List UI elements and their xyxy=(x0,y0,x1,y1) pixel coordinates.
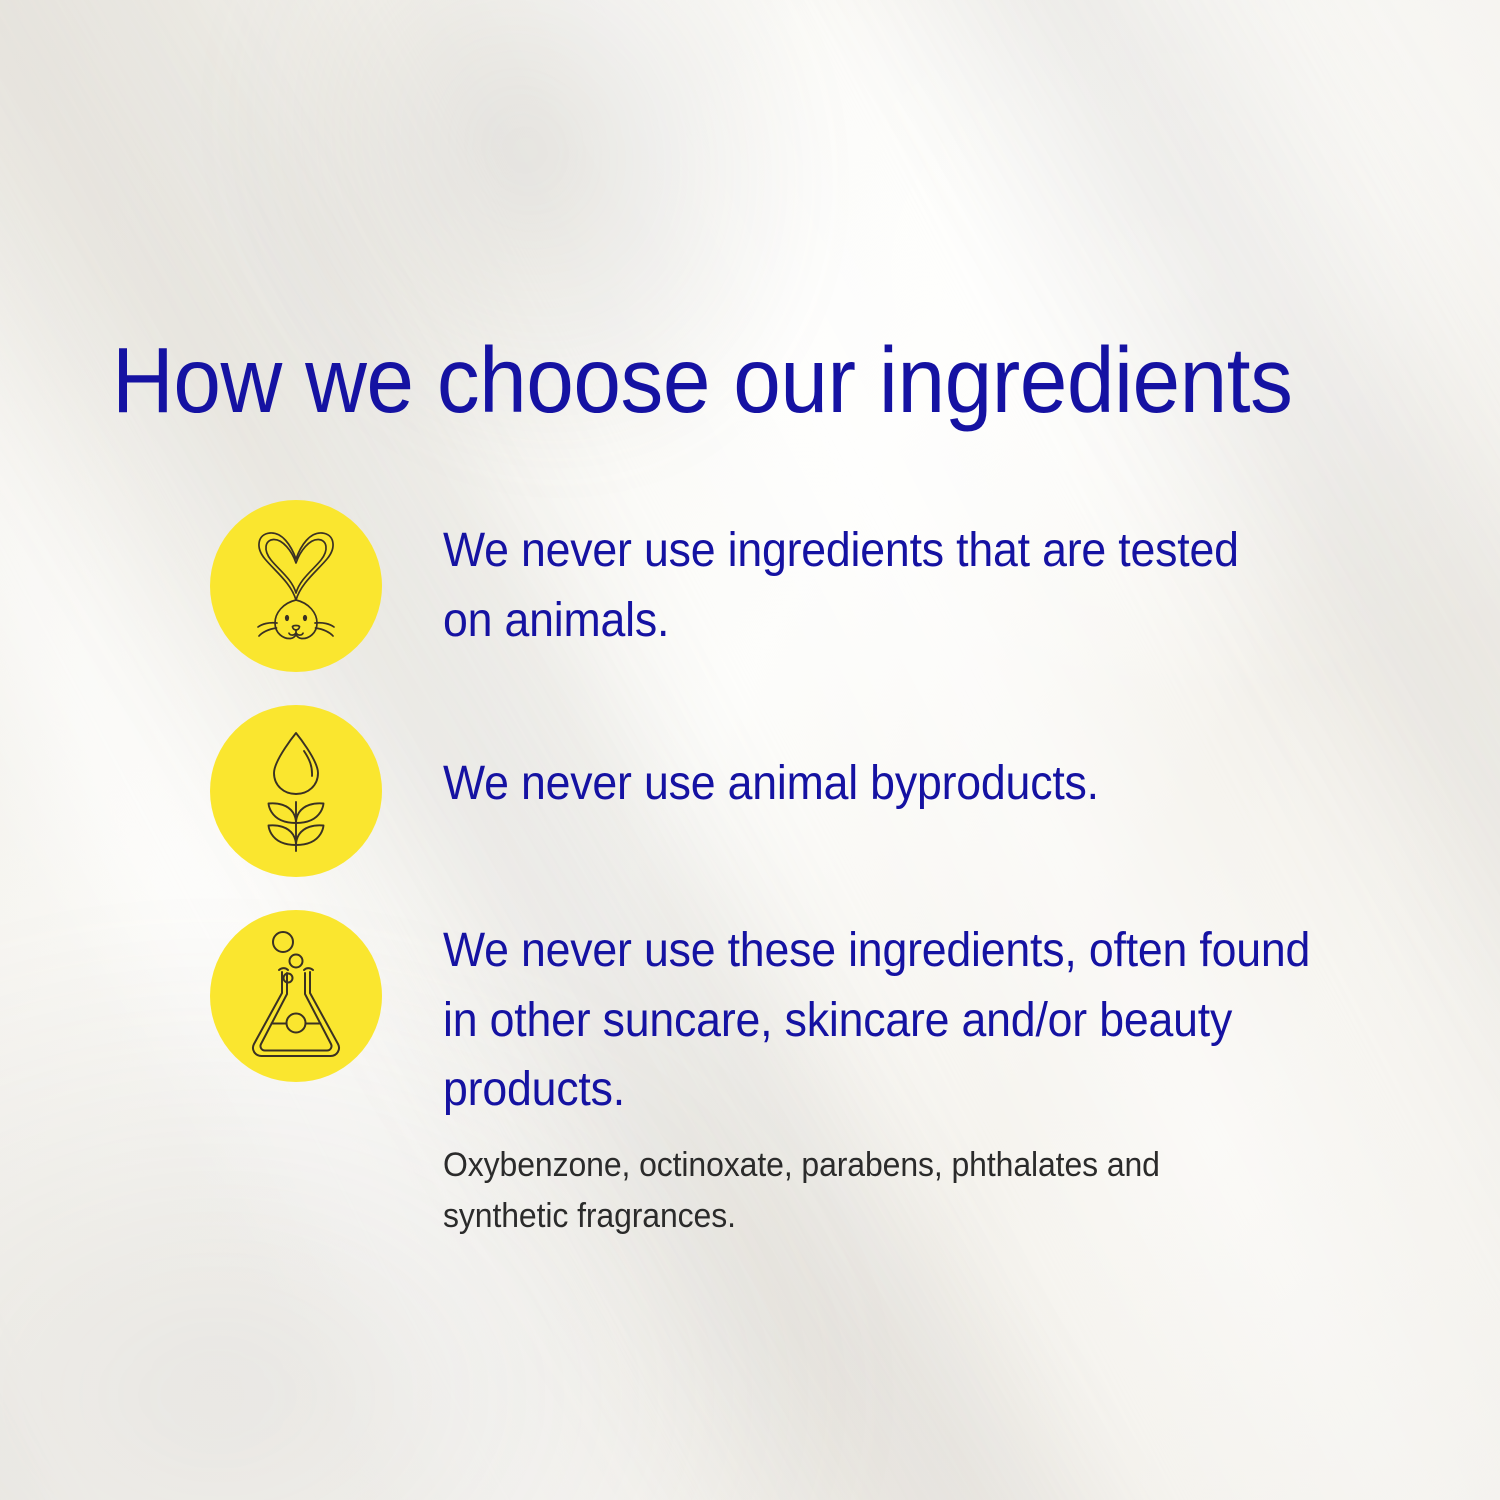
bunny-heart-ears-icon xyxy=(210,500,382,672)
page-title: How we choose our ingredients xyxy=(112,334,1326,427)
marketing-panel: How we choose our ingredients xyxy=(0,0,1500,1500)
benefit-item-label: We never use ingredients that are tested… xyxy=(443,516,1280,655)
excluded-ingredients-note: Oxybenzone, octinoxate, parabens, phthal… xyxy=(443,1140,1251,1242)
benefit-item-label: We never use these ingredients, often fo… xyxy=(443,916,1327,1125)
droplet-plant-icon xyxy=(210,705,382,877)
benefit-item-label: We never use animal byproducts. xyxy=(443,749,1280,819)
flask-bubbles-icon xyxy=(210,910,382,1082)
content-layer: How we choose our ingredients xyxy=(0,0,1500,1500)
